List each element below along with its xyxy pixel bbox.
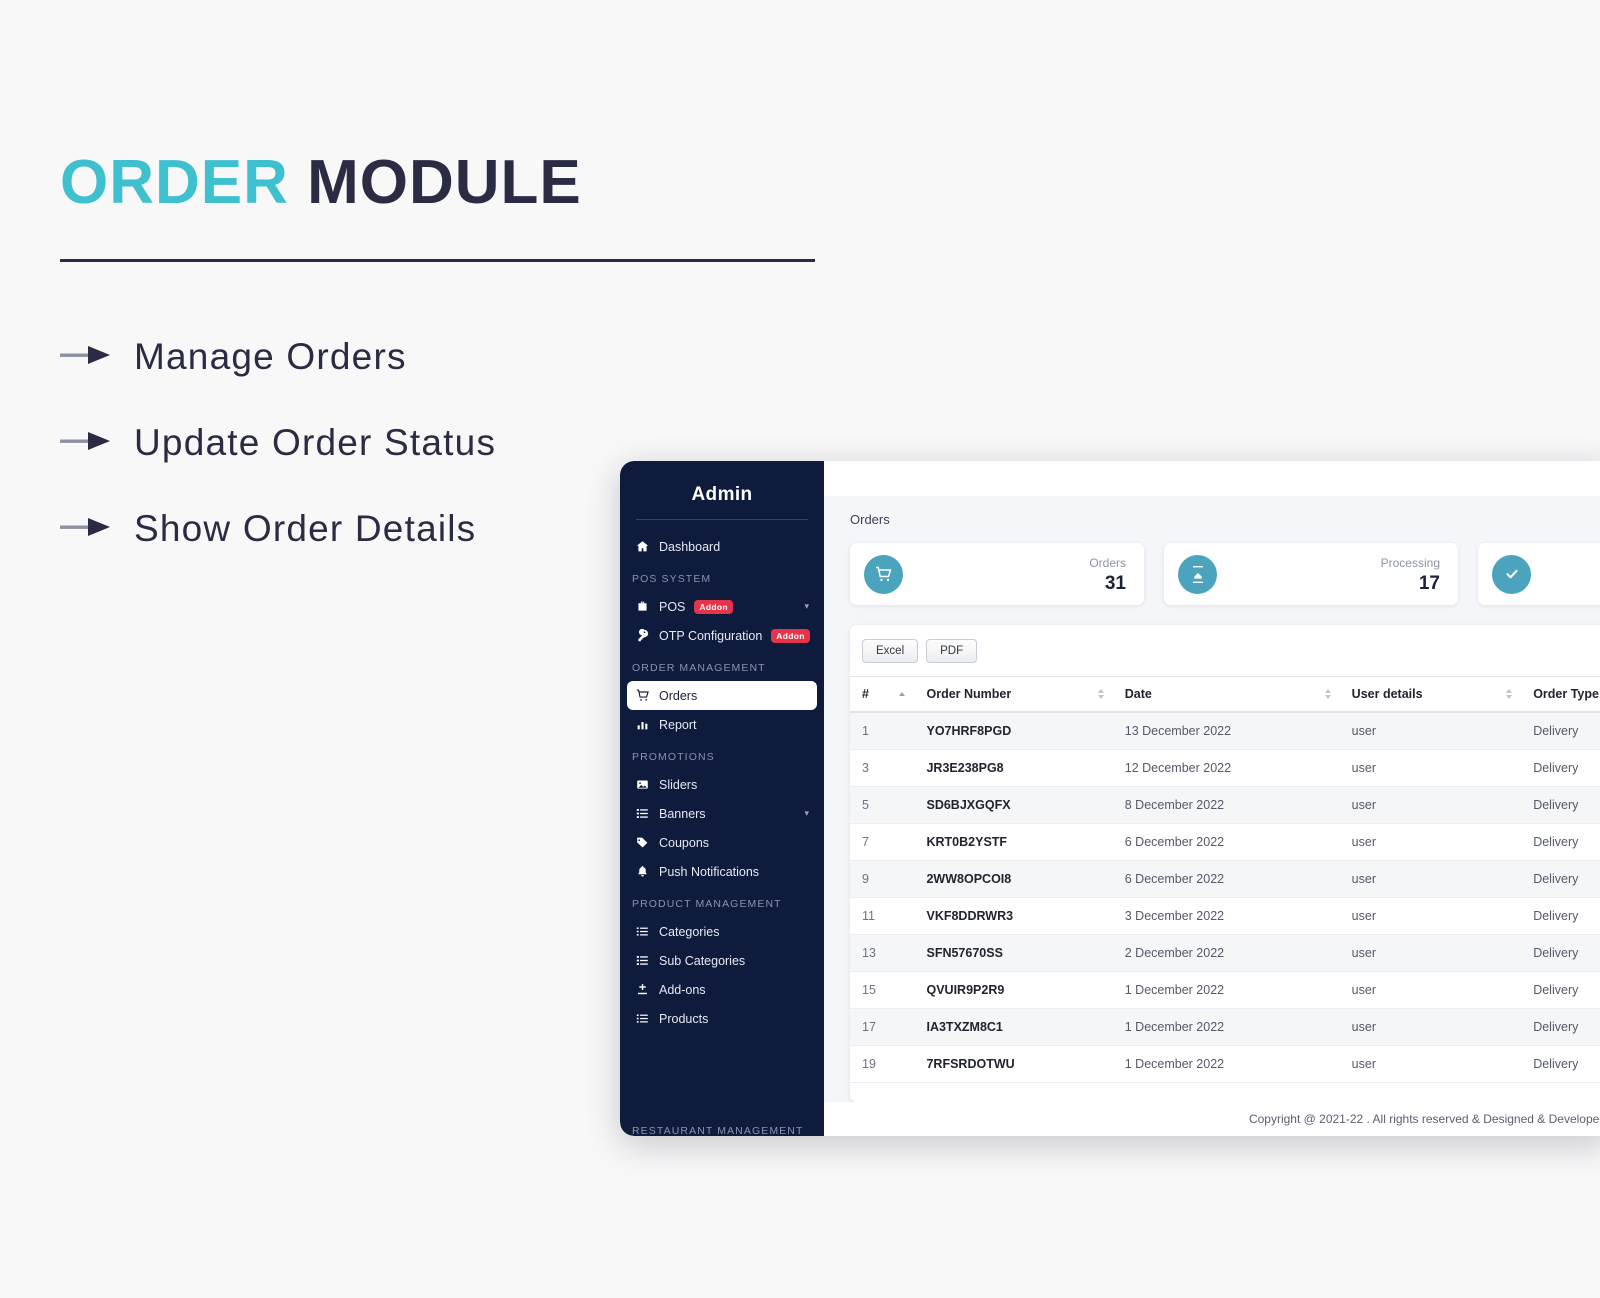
cell-order-number: SFN57670SS bbox=[914, 935, 1112, 972]
cell-date: 1 December 2022 bbox=[1113, 1009, 1340, 1046]
table-row[interactable]: 3JR3E238PG812 December 2022userDelivery$… bbox=[850, 750, 1600, 787]
cell-order-type: Delivery bbox=[1521, 787, 1600, 824]
cell-order-type: Delivery bbox=[1521, 861, 1600, 898]
arrow-right-icon bbox=[60, 514, 122, 545]
table-row[interactable]: 197RFSRDOTWU1 December 2022userDelivery$… bbox=[850, 1046, 1600, 1083]
sidebar-item-label: Categories bbox=[659, 925, 719, 939]
sidebar-item-pos[interactable]: POS Addon ▾ bbox=[627, 592, 817, 621]
column-header-user-details[interactable]: User details bbox=[1340, 677, 1522, 713]
page-title: ORDER MODULE bbox=[60, 150, 820, 215]
list-item: Manage Orders bbox=[60, 314, 820, 400]
cell-order-type: Delivery bbox=[1521, 935, 1600, 972]
cell-order-number: QVUIR9P2R9 bbox=[914, 972, 1112, 1009]
plus-minus-icon bbox=[635, 983, 650, 996]
export-buttons: Excel PDF bbox=[850, 639, 1600, 676]
cell-order-type: Delivery bbox=[1521, 824, 1600, 861]
sidebar-item-label: Sub Categories bbox=[659, 954, 745, 968]
cell-index: 3 bbox=[850, 750, 914, 787]
table-row[interactable]: 17IA3TXZM8C11 December 2022userDelivery$… bbox=[850, 1009, 1600, 1046]
cell-order-type: Delivery bbox=[1521, 712, 1600, 750]
cell-date: 2 December 2022 bbox=[1113, 935, 1340, 972]
cell-date: 6 December 2022 bbox=[1113, 824, 1340, 861]
sidebar-brand: Admin bbox=[620, 473, 824, 519]
orders-table-card: Excel PDF # bbox=[850, 625, 1600, 1102]
stat-cards: Orders 31 Processing 17 bbox=[850, 543, 1600, 605]
cell-index: 9 bbox=[850, 861, 914, 898]
hourglass-icon bbox=[1178, 555, 1217, 594]
sidebar-item-push-notifications[interactable]: Push Notifications bbox=[627, 857, 817, 886]
cell-user: user bbox=[1340, 824, 1522, 861]
cell-user: user bbox=[1340, 898, 1522, 935]
column-header-index[interactable]: # bbox=[850, 677, 914, 713]
sidebar-item-add-ons[interactable]: Add-ons bbox=[627, 975, 817, 1004]
copyright-text: Copyright @ 2021-22 . All rights reserve… bbox=[1249, 1112, 1600, 1126]
breadcrumb: Orders bbox=[850, 512, 1600, 527]
cell-order-type: Delivery bbox=[1521, 1046, 1600, 1083]
list-item-label: Show Order Details bbox=[134, 508, 476, 550]
cell-date: 1 December 2022 bbox=[1113, 972, 1340, 1009]
tag-icon bbox=[635, 836, 650, 849]
list-icon bbox=[635, 1012, 650, 1025]
sidebar-item-label: Push Notifications bbox=[659, 865, 759, 879]
main-area: Orders Orders 31 bbox=[824, 461, 1600, 1136]
sidebar-item-products[interactable]: Products bbox=[627, 1004, 817, 1033]
table-body: 1YO7HRF8PGD13 December 2022userDelivery$… bbox=[850, 712, 1600, 1083]
list-tree-icon bbox=[635, 954, 650, 967]
sidebar-item-label: Coupons bbox=[659, 836, 709, 850]
sidebar-item-label: Report bbox=[659, 718, 697, 732]
cell-user: user bbox=[1340, 861, 1522, 898]
column-header-order-number[interactable]: Order Number bbox=[914, 677, 1112, 713]
cell-order-type: Delivery bbox=[1521, 750, 1600, 787]
cart-icon bbox=[635, 689, 650, 702]
cell-order-type: Delivery bbox=[1521, 972, 1600, 1009]
cell-date: 1 December 2022 bbox=[1113, 1046, 1340, 1083]
cell-date: 12 December 2022 bbox=[1113, 750, 1340, 787]
sidebar-item-label: Orders bbox=[659, 689, 697, 703]
sidebar-item-label: Banners bbox=[659, 807, 706, 821]
sidebar-item-label: Add-ons bbox=[659, 983, 706, 997]
table-row[interactable]: 15QVUIR9P2R91 December 2022userDelivery$… bbox=[850, 972, 1600, 1009]
table-row[interactable]: 1YO7HRF8PGD13 December 2022userDelivery$… bbox=[850, 712, 1600, 750]
cell-order-number: JR3E238PG8 bbox=[914, 750, 1112, 787]
chevron-down-icon[interactable]: ▾ bbox=[804, 601, 809, 612]
cell-user: user bbox=[1340, 1046, 1522, 1083]
orders-table: # Order Number Date bbox=[850, 676, 1600, 1083]
sidebar-divider bbox=[636, 519, 808, 520]
sidebar-section-restaurant-management: RESTAURANT MANAGEMENT bbox=[620, 1124, 824, 1136]
cell-user: user bbox=[1340, 750, 1522, 787]
sidebar-item-dashboard[interactable]: Dashboard bbox=[627, 532, 817, 561]
sidebar-item-orders[interactable]: Orders bbox=[627, 681, 817, 710]
sidebar-item-otp-configuration[interactable]: OTP Configuration Addon bbox=[627, 621, 817, 650]
chevron-down-icon[interactable]: ▾ bbox=[804, 808, 809, 819]
stat-text: Processing 17 bbox=[1381, 554, 1440, 595]
title-divider bbox=[60, 259, 815, 262]
bell-icon bbox=[635, 865, 650, 878]
export-pdf-button[interactable]: PDF bbox=[926, 639, 977, 663]
cell-order-type: Delivery bbox=[1521, 898, 1600, 935]
list-item-label: Manage Orders bbox=[134, 336, 407, 378]
cell-user: user bbox=[1340, 1009, 1522, 1046]
cell-index: 17 bbox=[850, 1009, 914, 1046]
column-header-label: Date bbox=[1125, 687, 1152, 701]
sort-icon[interactable] bbox=[1325, 689, 1331, 699]
list-tree-icon bbox=[635, 807, 650, 820]
home-icon bbox=[635, 540, 650, 553]
column-header-label: Order Number bbox=[926, 687, 1011, 701]
sidebar-section-promotions: PROMOTIONS bbox=[620, 739, 824, 770]
chart-icon bbox=[635, 718, 650, 731]
sidebar-item-label: Sliders bbox=[659, 778, 697, 792]
list-icon bbox=[635, 925, 650, 938]
sidebar-section-product-management: PRODUCT MANAGEMENT bbox=[620, 886, 824, 917]
stat-value: 17 bbox=[1419, 573, 1440, 594]
sort-icon[interactable] bbox=[899, 692, 905, 696]
cell-order-number: 2WW8OPCOI8 bbox=[914, 861, 1112, 898]
arrow-right-icon bbox=[60, 342, 122, 373]
image-icon bbox=[635, 778, 650, 791]
sidebar-section-pos: POS SYSTEM bbox=[620, 561, 824, 592]
status-badge: Addon bbox=[694, 600, 732, 614]
cell-order-number: SD6BJXGQFX bbox=[914, 787, 1112, 824]
table-header: # Order Number Date bbox=[850, 677, 1600, 713]
cart-icon bbox=[864, 555, 903, 594]
export-excel-button[interactable]: Excel bbox=[862, 639, 918, 663]
column-header-label: Order Type bbox=[1533, 687, 1599, 701]
content-area: Orders Orders 31 bbox=[824, 496, 1600, 1102]
cell-order-number: KRT0B2YSTF bbox=[914, 824, 1112, 861]
column-header-label: User details bbox=[1352, 687, 1423, 701]
sidebar-item-sliders[interactable]: Sliders bbox=[627, 770, 817, 799]
stat-value: 31 bbox=[1105, 573, 1126, 594]
cell-index: 19 bbox=[850, 1046, 914, 1083]
stat-label: Orders bbox=[1089, 556, 1126, 570]
table-row[interactable]: 5SD6BJXGQFX8 December 2022userDelivery$1… bbox=[850, 787, 1600, 824]
sidebar-item-label: Dashboard bbox=[659, 540, 720, 554]
sort-icon[interactable] bbox=[1506, 689, 1512, 699]
column-header-order-type[interactable]: Order Type bbox=[1521, 677, 1600, 713]
cell-order-number: IA3TXZM8C1 bbox=[914, 1009, 1112, 1046]
topbar bbox=[824, 461, 1600, 496]
cell-order-number: 7RFSRDOTWU bbox=[914, 1046, 1112, 1083]
briefcase-icon bbox=[635, 600, 650, 613]
cell-index: 11 bbox=[850, 898, 914, 935]
sidebar-item-coupons[interactable]: Coupons bbox=[627, 828, 817, 857]
column-header-date[interactable]: Date bbox=[1113, 677, 1340, 713]
cell-date: 3 December 2022 bbox=[1113, 898, 1340, 935]
sidebar: Admin Dashboard POS SYSTEM POS Addon ▾ bbox=[620, 461, 824, 1136]
table-row[interactable]: 13SFN57670SS2 December 2022userDelivery$… bbox=[850, 935, 1600, 972]
cell-order-number: YO7HRF8PGD bbox=[914, 712, 1112, 750]
sort-icon[interactable] bbox=[1098, 689, 1104, 699]
stat-card-processing[interactable]: Processing 17 bbox=[1164, 543, 1458, 605]
cell-order-number: VKF8DDRWR3 bbox=[914, 898, 1112, 935]
slide-canvas: ORDER MODULE Manage Orders bbox=[0, 0, 1600, 1298]
stat-label: Processing bbox=[1381, 556, 1440, 570]
list-item-label: Update Order Status bbox=[134, 422, 496, 464]
cell-user: user bbox=[1340, 787, 1522, 824]
table-row[interactable]: 11VKF8DDRWR33 December 2022userDelivery$… bbox=[850, 898, 1600, 935]
column-header-label: # bbox=[862, 687, 869, 701]
cell-date: 13 December 2022 bbox=[1113, 712, 1340, 750]
sidebar-item-label: POS bbox=[659, 600, 685, 614]
page-title-main: MODULE bbox=[307, 148, 582, 217]
sidebar-item-report[interactable]: Report bbox=[627, 710, 817, 739]
cell-date: 8 December 2022 bbox=[1113, 787, 1340, 824]
sidebar-section-order-management: ORDER MANAGEMENT bbox=[620, 650, 824, 681]
page-title-accent: ORDER bbox=[60, 148, 289, 217]
stat-text: Orders 31 bbox=[1089, 554, 1126, 595]
check-circle-icon bbox=[1492, 555, 1531, 594]
cell-index: 7 bbox=[850, 824, 914, 861]
cell-user: user bbox=[1340, 972, 1522, 1009]
table-row[interactable]: 7KRT0B2YSTF6 December 2022userDelivery$2… bbox=[850, 824, 1600, 861]
table-row[interactable]: 92WW8OPCOI86 December 2022userDelivery$1… bbox=[850, 861, 1600, 898]
admin-panel-screenshot: Admin Dashboard POS SYSTEM POS Addon ▾ bbox=[620, 461, 1600, 1136]
sidebar-item-label: OTP Configuration bbox=[659, 629, 762, 643]
arrow-right-icon bbox=[60, 428, 122, 459]
sidebar-item-sub-categories[interactable]: Sub Categories bbox=[627, 946, 817, 975]
cell-user: user bbox=[1340, 935, 1522, 972]
cell-index: 1 bbox=[850, 712, 914, 750]
sidebar-item-categories[interactable]: Categories bbox=[627, 917, 817, 946]
cell-index: 15 bbox=[850, 972, 914, 1009]
stat-card-orders[interactable]: Orders 31 bbox=[850, 543, 1144, 605]
footer: Copyright @ 2021-22 . All rights reserve… bbox=[824, 1102, 1600, 1136]
cell-order-type: Delivery bbox=[1521, 1009, 1600, 1046]
cell-index: 13 bbox=[850, 935, 914, 972]
stat-card-completed[interactable] bbox=[1478, 543, 1600, 605]
sidebar-item-banners[interactable]: Banners ▾ bbox=[627, 799, 817, 828]
status-badge: Addon bbox=[771, 629, 809, 643]
key-icon bbox=[635, 629, 650, 642]
sidebar-item-label: Products bbox=[659, 1012, 708, 1026]
cell-index: 5 bbox=[850, 787, 914, 824]
cell-user: user bbox=[1340, 712, 1522, 750]
cell-date: 6 December 2022 bbox=[1113, 861, 1340, 898]
